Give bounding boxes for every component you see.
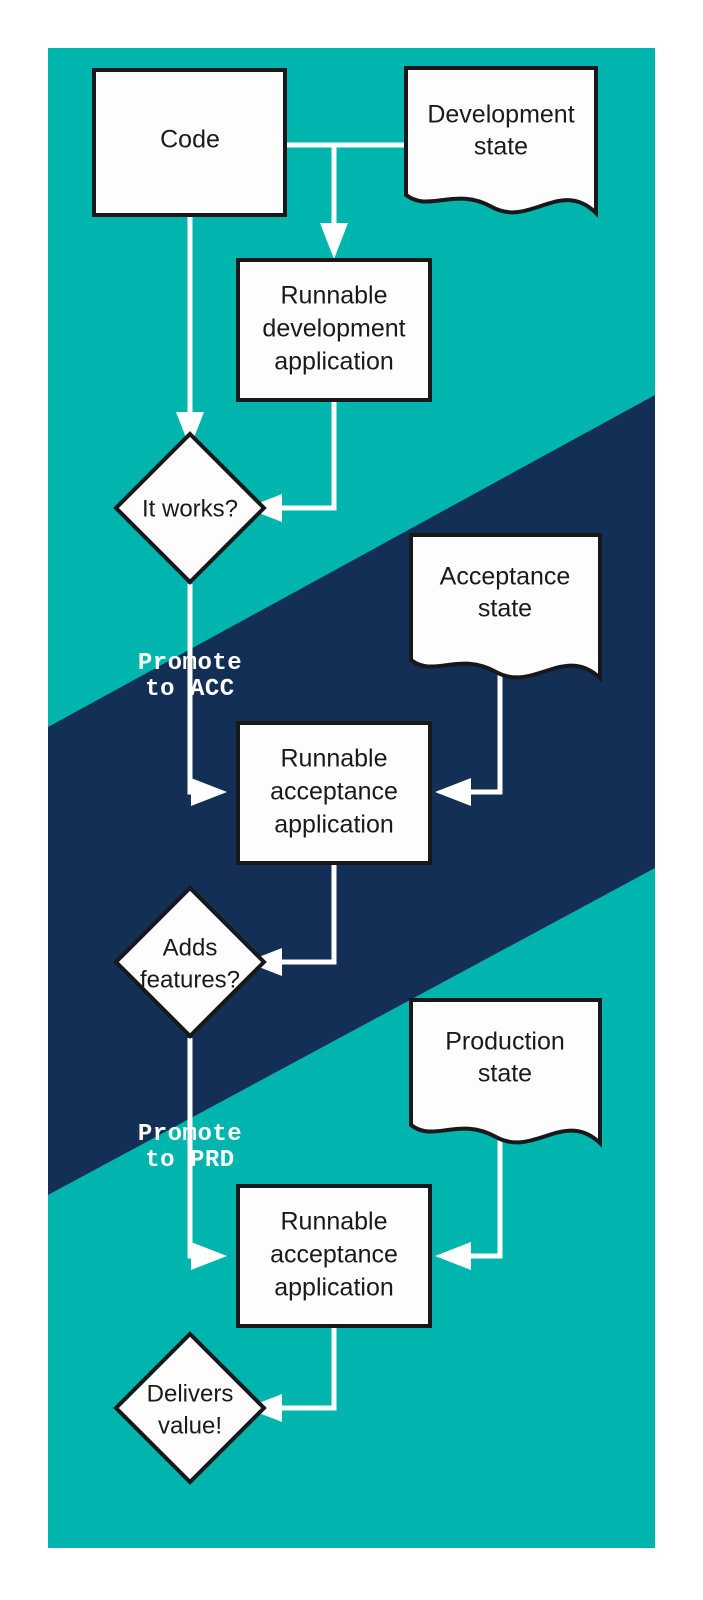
flowchart-diagram: Code Development state Runnable developm…: [0, 0, 703, 1600]
node-production-state[interactable]: Production state: [411, 1000, 600, 1143]
runnable-acceptance-application-label-line3: application: [274, 811, 394, 839]
adds-features-label-line2: features?: [140, 966, 240, 993]
production-state-label-line2: state: [478, 1060, 532, 1088]
development-state-label-line1: Development: [427, 101, 574, 129]
node-acceptance-state[interactable]: Acceptance state: [411, 535, 600, 678]
acceptance-state-label-line1: Acceptance: [440, 563, 571, 591]
promote-to-prd-line2: to PRD: [145, 1147, 234, 1174]
runnable-production-application-label-line2: acceptance: [270, 1241, 398, 1269]
delivers-value-label-line1: Delivers: [147, 1380, 234, 1407]
adds-features-label-line1: Adds: [163, 934, 218, 961]
promote-to-acc-line2: to ACC: [145, 676, 234, 703]
production-state-label-line1: Production: [445, 1028, 565, 1056]
it-works-label: It works?: [142, 495, 238, 522]
runnable-production-application-label-line1: Runnable: [280, 1208, 387, 1236]
promote-to-prd-line1: Promote: [138, 1121, 242, 1148]
promote-to-prd-label: Promote to PRD: [138, 1121, 242, 1174]
node-runnable-production-application[interactable]: Runnable acceptance application: [238, 1186, 430, 1326]
node-runnable-development-application[interactable]: Runnable development application: [238, 260, 430, 400]
node-code[interactable]: Code: [94, 70, 285, 215]
node-development-state[interactable]: Development state: [406, 68, 596, 213]
flowchart-canvas: Code Development state Runnable developm…: [0, 0, 703, 1600]
runnable-acceptance-application-label-line1: Runnable: [280, 745, 387, 773]
runnable-acceptance-application-label-line2: acceptance: [270, 778, 398, 806]
node-runnable-acceptance-application[interactable]: Runnable acceptance application: [238, 723, 430, 863]
runnable-development-application-label-line2: development: [262, 315, 405, 343]
code-label: Code: [160, 126, 220, 154]
acceptance-state-label-line2: state: [478, 595, 532, 623]
promote-to-acc-line1: Promote: [138, 650, 242, 677]
runnable-development-application-label-line1: Runnable: [280, 282, 387, 310]
runnable-production-application-label-line3: application: [274, 1274, 394, 1302]
delivers-value-label-line2: value!: [158, 1412, 222, 1439]
promote-to-acc-label: Promote to ACC: [138, 650, 242, 703]
development-state-label-line2: state: [474, 133, 528, 161]
runnable-development-application-label-line3: application: [274, 348, 394, 376]
